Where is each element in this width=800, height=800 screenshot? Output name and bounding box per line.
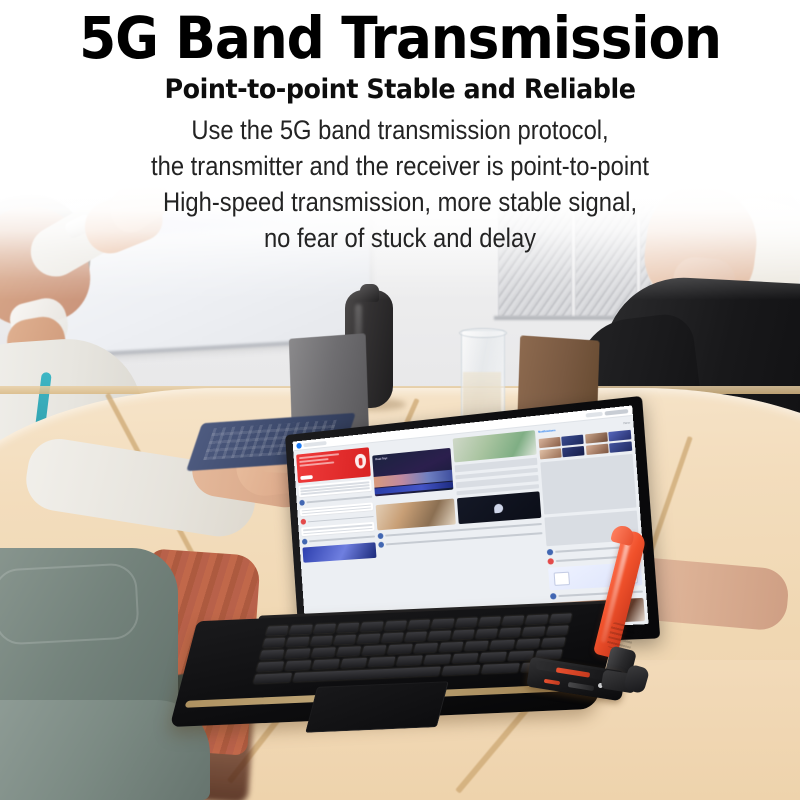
avatar xyxy=(547,549,554,556)
banner-body: Use the 5G band transmission protocol, t… xyxy=(48,112,752,256)
nav-notifications[interactable] xyxy=(605,408,629,415)
feed-middle-column: Road Trip! xyxy=(372,430,550,633)
avatar xyxy=(301,519,307,525)
usb-wifi-adapter xyxy=(528,650,644,704)
avatar xyxy=(378,542,384,548)
feed-image-post[interactable] xyxy=(457,491,541,524)
avatar xyxy=(299,499,305,505)
home-link[interactable]: Home xyxy=(623,421,630,425)
nav-home[interactable] xyxy=(586,411,603,417)
feed-image-post[interactable]: Road Trip! xyxy=(372,448,453,497)
promo-card[interactable] xyxy=(296,447,371,483)
laptop-trackpad[interactable] xyxy=(305,681,449,733)
product-banner: Road Trip! xyxy=(0,0,800,800)
banner-text: 5G Band Transmission Point-to-point Stab… xyxy=(0,0,800,256)
social-logo-icon[interactable] xyxy=(296,442,302,448)
body-line: no fear of stuck and delay xyxy=(48,220,752,256)
avatar xyxy=(378,533,384,539)
feed-image-post[interactable] xyxy=(302,542,376,563)
feed-image-post[interactable] xyxy=(453,430,537,462)
avatar xyxy=(548,558,555,565)
vase-neck xyxy=(360,284,379,302)
shield-icon xyxy=(355,453,367,469)
carafe-rim xyxy=(459,328,507,338)
body-line: the transmitter and the receiver is poin… xyxy=(48,148,752,184)
body-line: Use the 5G band transmission protocol, xyxy=(48,112,752,148)
body-line: High-speed transmission, more stable sig… xyxy=(48,184,752,220)
feed-image-post[interactable] xyxy=(376,499,456,531)
feed-left-column xyxy=(296,447,382,636)
search-input[interactable] xyxy=(303,441,326,447)
post-label: Road Trip! xyxy=(375,457,387,461)
avatar xyxy=(302,539,308,545)
cta-button[interactable] xyxy=(300,475,313,480)
page-subtitle: Point-to-point Stable and Reliable xyxy=(24,74,776,106)
notifications-title: Notifications xyxy=(538,428,556,434)
page-title: 5G Band Transmission xyxy=(32,8,768,68)
armchair-seam xyxy=(0,562,140,645)
avatar xyxy=(550,593,557,599)
